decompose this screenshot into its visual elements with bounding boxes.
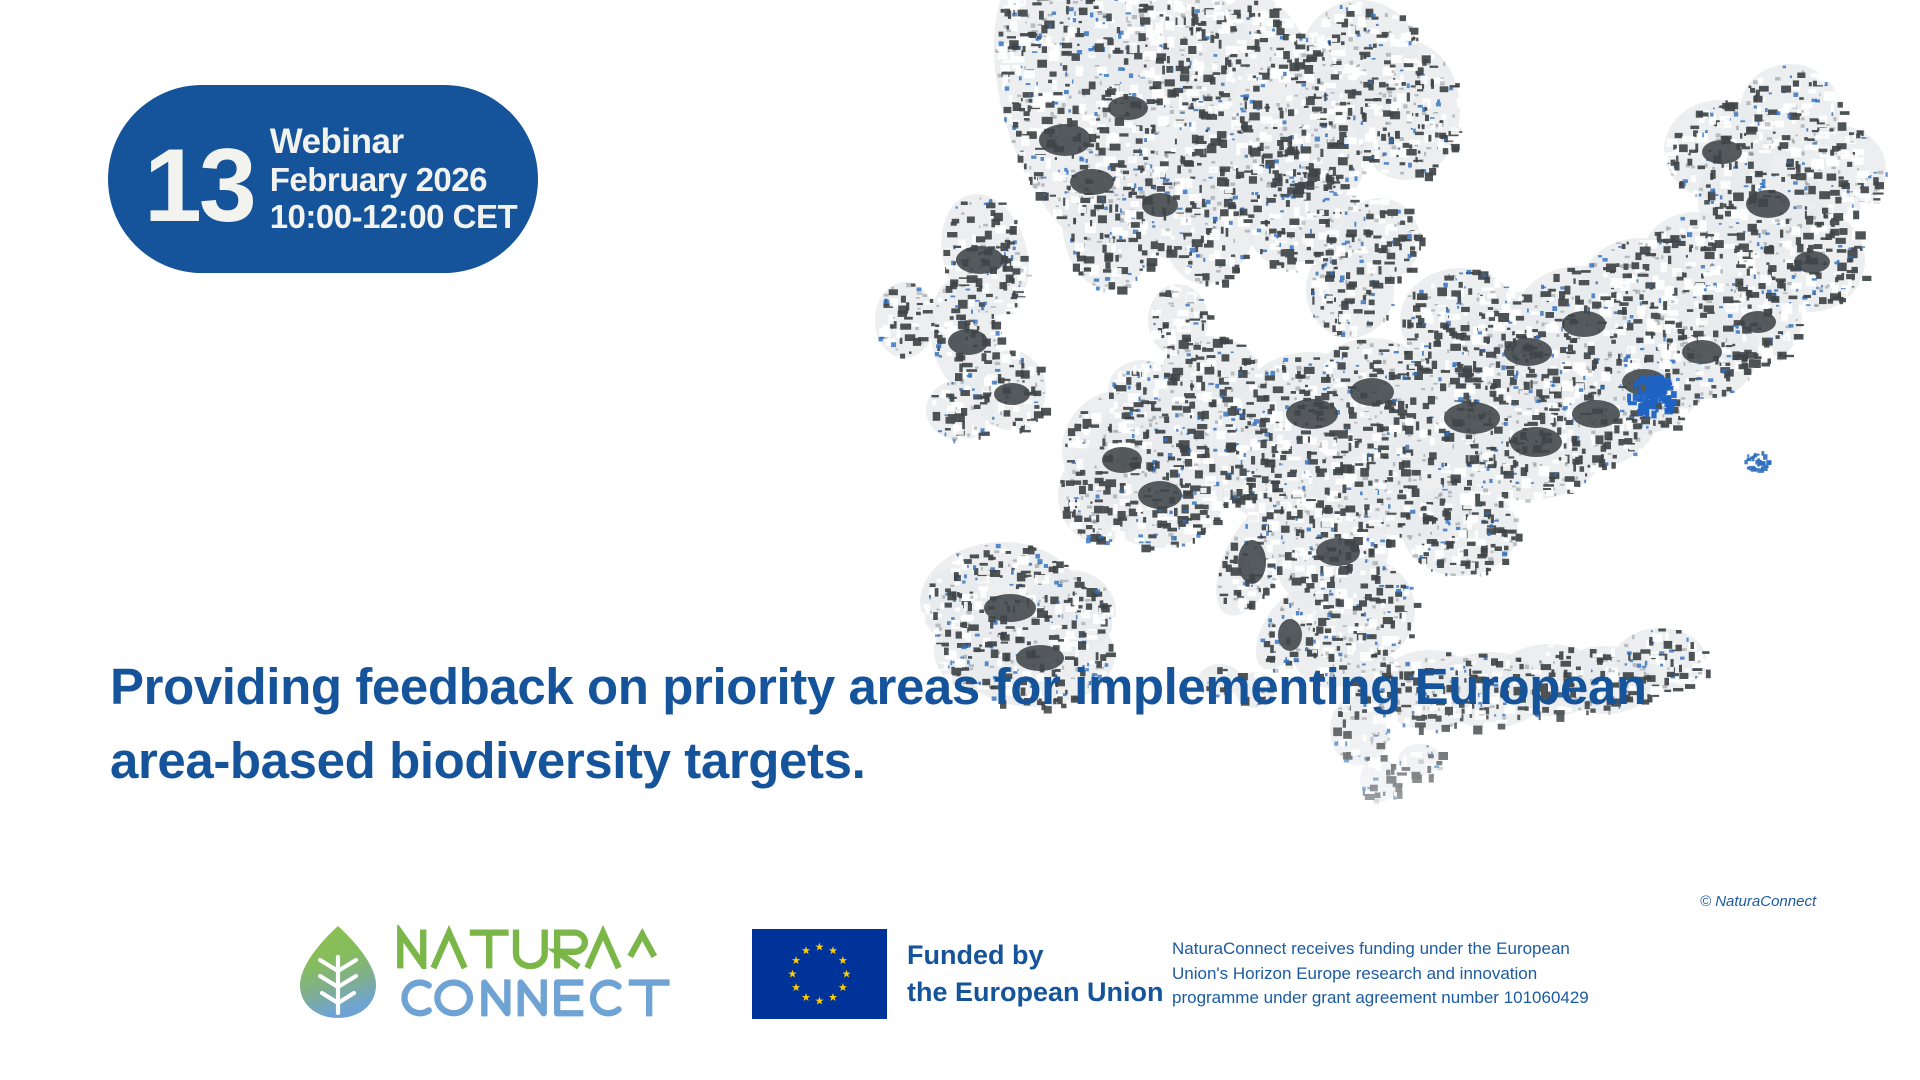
funding-disclaimer: NaturaConnect receives funding under the… — [1172, 937, 1592, 1011]
badge-date-label: February 2026 — [270, 162, 517, 199]
eu-funding-logo: Funded by the European Union — [752, 929, 1164, 1019]
footer: Funded by the European Union NaturaConne… — [0, 905, 1920, 1080]
funding-line-2: Union's Horizon Europe research and inno… — [1172, 962, 1592, 987]
eu-funding-text: Funded by the European Union — [907, 937, 1164, 1012]
naturaconnect-wordmark — [394, 925, 682, 1019]
natura-word — [394, 925, 682, 969]
page-title: Providing feedback on priority areas for… — [110, 650, 1760, 798]
eu-flag-icon — [752, 929, 887, 1019]
connect-word — [394, 973, 682, 1019]
badge-time-label: 10:00-12:00 CET — [270, 199, 517, 236]
eu-text-line-2: the European Union — [907, 974, 1164, 1011]
funding-line-3: programme under grant agreement number 1… — [1172, 986, 1592, 1011]
badge-kicker-label: Webinar — [270, 122, 517, 161]
badge-day-number: 13 — [144, 139, 254, 235]
eu-text-line-1: Funded by — [907, 937, 1164, 974]
webinar-date-badge: 13 Webinar February 2026 10:00-12:00 CET — [108, 85, 538, 273]
headline-line-2: area-based biodiversity targets. — [110, 724, 1760, 798]
naturaconnect-logo — [296, 923, 682, 1021]
funding-line-1: NaturaConnect receives funding under the… — [1172, 937, 1592, 962]
leaf-icon — [296, 923, 380, 1021]
webinar-announcement-poster: 13 Webinar February 2026 10:00-12:00 CET… — [0, 0, 1920, 1080]
headline-line-1: Providing feedback on priority areas for… — [110, 650, 1760, 724]
badge-text-lines: Webinar February 2026 10:00-12:00 CET — [270, 122, 517, 235]
